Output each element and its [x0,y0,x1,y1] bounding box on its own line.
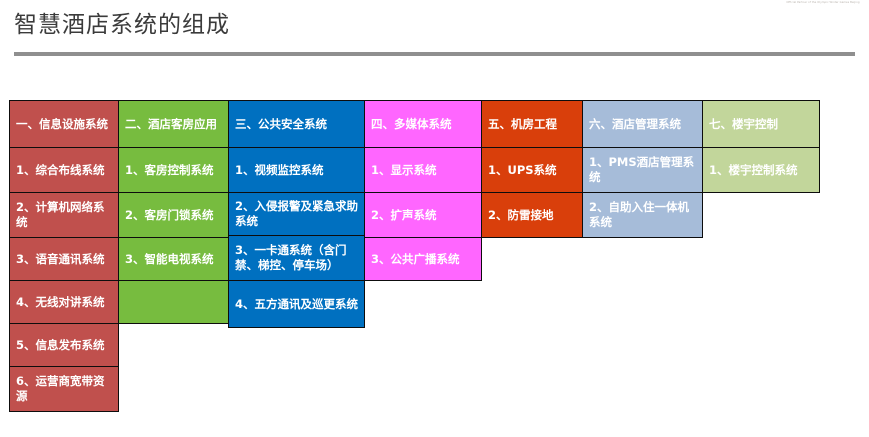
watermark-text: Official Partner of the Olympic Winter G… [783,1,863,5]
matrix-cell: 2、自助入住一体机系统 [582,192,703,238]
title-divider [14,52,855,56]
matrix-cell: 1、显示系统 [364,147,482,193]
system-composition-matrix: 一、信息设施系统 1、综合布线系统 2、计算机网络系统 3、语音通讯系统 4、无… [9,100,819,411]
matrix-cell: 6、运营商宽带资源 [9,366,119,412]
matrix-column-information-facilities: 一、信息设施系统 1、综合布线系统 2、计算机网络系统 3、语音通讯系统 4、无… [9,100,119,411]
matrix-cell: 2、入侵报警及紧急求助系统 [228,192,365,236]
page-title: 智慧酒店系统的组成 [14,8,230,42]
column-header-6: 六、酒店管理系统 [582,100,703,148]
column-header-5: 五、机房工程 [481,100,583,148]
matrix-column-public-security: 三、公共安全系统 1、视频监控系统 2、入侵报警及紧急求助系统 3、一卡通系统（… [228,100,365,327]
column-header-4: 四、多媒体系统 [364,100,482,148]
matrix-column-machine-room: 五、机房工程 1、UPS系统 2、防雷接地 [481,100,583,237]
matrix-cell: 3、公共广播系统 [364,237,482,281]
column-header-7: 七、楼宇控制 [702,100,820,148]
matrix-cell: 2、扩声系统 [364,192,482,238]
column-header-1: 一、信息设施系统 [9,100,119,148]
column-header-3: 三、公共安全系统 [228,100,365,148]
matrix-column-hotel-management: 六、酒店管理系统 1、PMS酒店管理系统 2、自助入住一体机系统 [582,100,703,237]
matrix-cell: 2、防雷接地 [481,192,583,238]
column-header-2: 二、酒店客房应用 [118,100,229,148]
matrix-cell: 2、计算机网络系统 [9,192,119,238]
matrix-cell: 1、综合布线系统 [9,147,119,193]
matrix-cell: 4、五方通讯及巡更系统 [228,280,365,328]
matrix-column-building-control: 七、楼宇控制 1、楼宇控制系统 [702,100,820,192]
matrix-cell: 3、语音通讯系统 [9,237,119,281]
matrix-cell: 5、信息发布系统 [9,323,119,367]
matrix-cell: 1、视频监控系统 [228,147,365,193]
matrix-cell-empty [118,280,229,324]
matrix-cell: 2、客房门锁系统 [118,192,229,238]
matrix-cell: 3、智能电视系统 [118,237,229,281]
matrix-cell: 1、PMS酒店管理系统 [582,147,703,193]
matrix-cell: 1、UPS系统 [481,147,583,193]
matrix-column-multimedia: 四、多媒体系统 1、显示系统 2、扩声系统 3、公共广播系统 [364,100,482,280]
matrix-cell: 1、楼宇控制系统 [702,147,820,193]
matrix-cell: 3、一卡通系统（含门禁、梯控、停车场） [228,235,365,281]
matrix-cell: 1、客房控制系统 [118,147,229,193]
matrix-column-guestroom-applications: 二、酒店客房应用 1、客房控制系统 2、客房门锁系统 3、智能电视系统 [118,100,229,323]
matrix-cell: 4、无线对讲系统 [9,280,119,324]
